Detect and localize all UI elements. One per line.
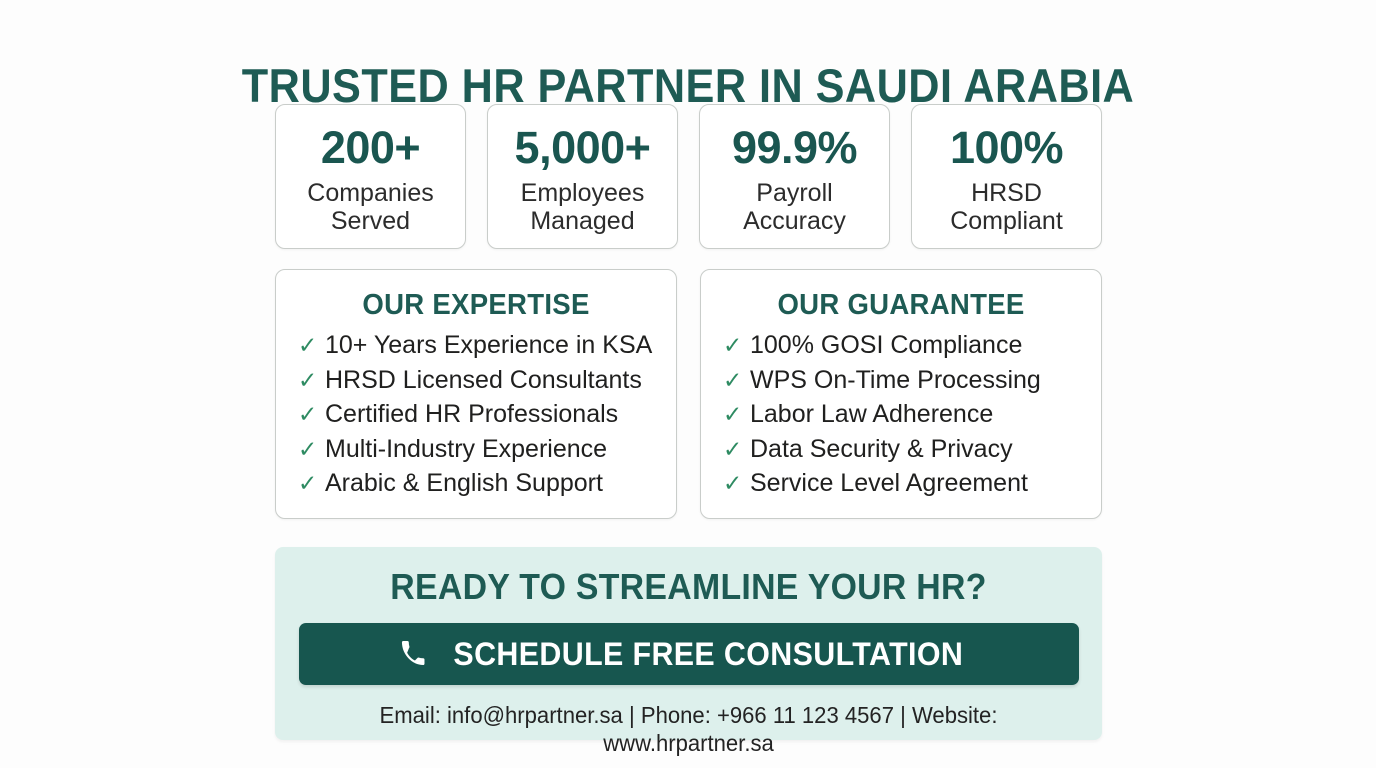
infographic-page: TRUSTED HR PARTNER IN SAUDI ARABIA 200+ …	[0, 0, 1376, 768]
list-item-label: Service Level Agreement	[750, 466, 1028, 501]
list-item-label: Labor Law Adherence	[750, 397, 993, 432]
expertise-list: ✓ 10+ Years Experience in KSA ✓ HRSD Lic…	[276, 328, 676, 501]
stat-label: HRSD Compliant	[950, 179, 1063, 235]
list-item: ✓ HRSD Licensed Consultants	[298, 363, 676, 398]
list-item: ✓ 100% GOSI Compliance	[723, 328, 1101, 363]
list-item: ✓ Arabic & English Support	[298, 466, 676, 501]
stat-label: Companies Served	[307, 179, 433, 235]
check-icon: ✓	[723, 363, 750, 398]
stat-card-companies-served: 200+ Companies Served	[275, 104, 466, 249]
stat-label: Employees Managed	[521, 179, 645, 235]
stat-label-line2: Accuracy	[743, 207, 846, 235]
panel-our-guarantee: OUR GUARANTEE ✓ 100% GOSI Compliance ✓ W…	[700, 269, 1102, 519]
panel-title: OUR GUARANTEE	[711, 288, 1091, 322]
cta-button-label: SCHEDULE FREE CONSULTATION	[454, 636, 964, 672]
list-item: ✓ Labor Law Adherence	[723, 397, 1101, 432]
stat-label-line1: Companies	[307, 179, 433, 207]
list-item-label: Arabic & English Support	[325, 466, 603, 501]
list-item-label: Certified HR Professionals	[325, 397, 618, 432]
cta-title: READY TO STREAMLINE YOUR HR?	[300, 565, 1077, 609]
stat-value: 5,000+	[515, 123, 651, 173]
list-item-label: Data Security & Privacy	[750, 432, 1013, 467]
stat-label-line1: Payroll	[756, 179, 832, 207]
list-item: ✓ Multi-Industry Experience	[298, 432, 676, 467]
stat-card-employees-managed: 5,000+ Employees Managed	[487, 104, 678, 249]
stat-label-line1: HRSD	[971, 179, 1042, 207]
phone-icon	[400, 641, 426, 667]
panel-our-expertise: OUR EXPERTISE ✓ 10+ Years Experience in …	[275, 269, 677, 519]
list-item: ✓ Data Security & Privacy	[723, 432, 1101, 467]
check-icon: ✓	[723, 432, 750, 467]
check-icon: ✓	[298, 432, 325, 467]
panels-row: OUR EXPERTISE ✓ 10+ Years Experience in …	[275, 269, 1102, 519]
list-item-label: 100% GOSI Compliance	[750, 328, 1022, 363]
list-item: ✓ 10+ Years Experience in KSA	[298, 328, 676, 363]
stat-label-line2: Managed	[530, 207, 634, 235]
stat-label-line2: Compliant	[950, 207, 1063, 235]
stat-card-payroll-accuracy: 99.9% Payroll Accuracy	[699, 104, 890, 249]
stat-value: 200+	[321, 123, 420, 173]
check-icon: ✓	[723, 466, 750, 501]
check-icon: ✓	[298, 397, 325, 432]
list-item-label: HRSD Licensed Consultants	[325, 363, 642, 398]
check-icon: ✓	[723, 328, 750, 363]
list-item-label: WPS On-Time Processing	[750, 363, 1041, 398]
stat-value: 99.9%	[732, 123, 857, 173]
guarantee-list: ✓ 100% GOSI Compliance ✓ WPS On-Time Pro…	[701, 328, 1101, 501]
check-icon: ✓	[298, 466, 325, 501]
list-item-label: Multi-Industry Experience	[325, 432, 607, 467]
stat-card-hrsd-compliant: 100% HRSD Compliant	[911, 104, 1102, 249]
contact-line: Email: info@hrpartner.sa | Phone: +966 1…	[292, 701, 1086, 757]
check-icon: ✓	[723, 397, 750, 432]
list-item: ✓ Service Level Agreement	[723, 466, 1101, 501]
stat-label: Payroll Accuracy	[743, 179, 846, 235]
stat-label-line1: Employees	[521, 179, 645, 207]
list-item: ✓ WPS On-Time Processing	[723, 363, 1101, 398]
check-icon: ✓	[298, 363, 325, 398]
cta-section: READY TO STREAMLINE YOUR HR? SCHEDULE FR…	[275, 547, 1102, 740]
list-item: ✓ Certified HR Professionals	[298, 397, 676, 432]
stat-value: 100%	[950, 123, 1063, 173]
stat-label-line2: Served	[331, 207, 410, 235]
list-item-label: 10+ Years Experience in KSA	[325, 328, 652, 363]
check-icon: ✓	[298, 328, 325, 363]
stats-row: 200+ Companies Served 5,000+ Employees M…	[275, 104, 1102, 249]
panel-title: OUR EXPERTISE	[286, 288, 666, 322]
schedule-free-consultation-button[interactable]: SCHEDULE FREE CONSULTATION	[299, 623, 1079, 685]
